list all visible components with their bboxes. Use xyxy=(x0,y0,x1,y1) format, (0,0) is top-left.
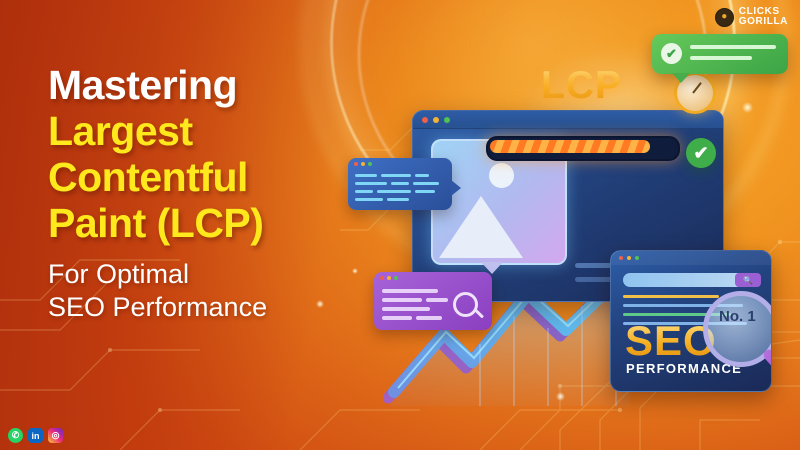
tooltip-line xyxy=(690,45,776,49)
banner-canvas: Mastering Largest Contentful Paint (LCP)… xyxy=(0,0,800,450)
subheadline-block: For Optimal SEO Performance xyxy=(48,258,378,324)
magnifier-icon xyxy=(703,291,772,367)
headline-line-4: Paint (LCP) xyxy=(48,200,378,246)
image-sun-icon xyxy=(489,163,514,188)
lcp-loading-bar-fill xyxy=(490,140,650,153)
whatsapp-icon[interactable]: ✆ xyxy=(8,428,23,443)
headline-block: Mastering Largest Contentful Paint (LCP)… xyxy=(48,62,378,324)
browser-maximize-dot-icon[interactable] xyxy=(444,117,450,123)
headline-line-2: Largest xyxy=(48,108,378,154)
subheadline-line-2: SEO Performance xyxy=(48,291,378,324)
social-links: ✆ in ◎ xyxy=(8,428,63,443)
search-card-titlebar xyxy=(374,272,492,283)
whatsapp-glyph: ✆ xyxy=(12,430,20,441)
magnifier-icon xyxy=(453,292,478,317)
code-snippet-card[interactable] xyxy=(348,158,452,210)
instagram-icon[interactable]: ◎ xyxy=(48,428,63,443)
code-card-titlebar xyxy=(348,158,452,169)
browser-minimize-dot-icon[interactable] xyxy=(433,117,439,123)
status-check-badge: ✔ xyxy=(686,138,716,168)
seo-card-close-dot-icon[interactable] xyxy=(619,256,623,260)
magnifier-handle-icon xyxy=(761,347,772,383)
browser-close-dot-icon[interactable] xyxy=(422,117,428,123)
code-card-maximize-dot-icon[interactable] xyxy=(368,162,372,166)
seo-card-titlebar xyxy=(611,251,771,265)
search-card-minimize-dot-icon[interactable] xyxy=(387,276,391,280)
code-card-minimize-dot-icon[interactable] xyxy=(361,162,365,166)
rank-badge: No. 1 xyxy=(719,308,756,325)
instagram-glyph: ◎ xyxy=(52,430,60,441)
seo-performance-card[interactable]: 🔍 SEO PERFORMANCE No. 1 xyxy=(610,250,772,392)
seo-result-line xyxy=(623,295,719,298)
browser-titlebar xyxy=(413,111,723,129)
search-card-close-dot-icon[interactable] xyxy=(380,276,384,280)
gorilla-head-icon: ● xyxy=(715,8,734,27)
search-result-card[interactable] xyxy=(374,272,492,330)
brand-logo-text: CLICKS GORILLA xyxy=(739,7,788,27)
brand-name-line-2: GORILLA xyxy=(739,17,788,27)
search-icon[interactable]: 🔍 xyxy=(735,273,761,287)
check-icon: ✔ xyxy=(661,43,682,64)
image-mountain-icon xyxy=(439,196,523,258)
hero-illustration: LCP ✔ ✔ xyxy=(336,28,800,450)
search-card-maximize-dot-icon[interactable] xyxy=(394,276,398,280)
headline-line-1: Mastering xyxy=(48,62,378,108)
subheadline-line-1: For Optimal xyxy=(48,258,378,291)
seo-search-input[interactable] xyxy=(623,273,745,287)
headline-line-3: Contentful xyxy=(48,154,378,200)
linkedin-glyph: in xyxy=(32,431,40,441)
code-card-close-dot-icon[interactable] xyxy=(354,162,358,166)
seo-card-minimize-dot-icon[interactable] xyxy=(627,256,631,260)
linkedin-icon[interactable]: in xyxy=(28,428,43,443)
lcp-label: LCP xyxy=(541,64,622,108)
tooltip-line xyxy=(690,56,752,60)
brand-logo[interactable]: ● CLICKS GORILLA xyxy=(715,7,788,27)
seo-card-maximize-dot-icon[interactable] xyxy=(635,256,639,260)
lcp-loading-bar xyxy=(486,136,680,161)
success-tooltip: ✔ xyxy=(652,34,788,74)
